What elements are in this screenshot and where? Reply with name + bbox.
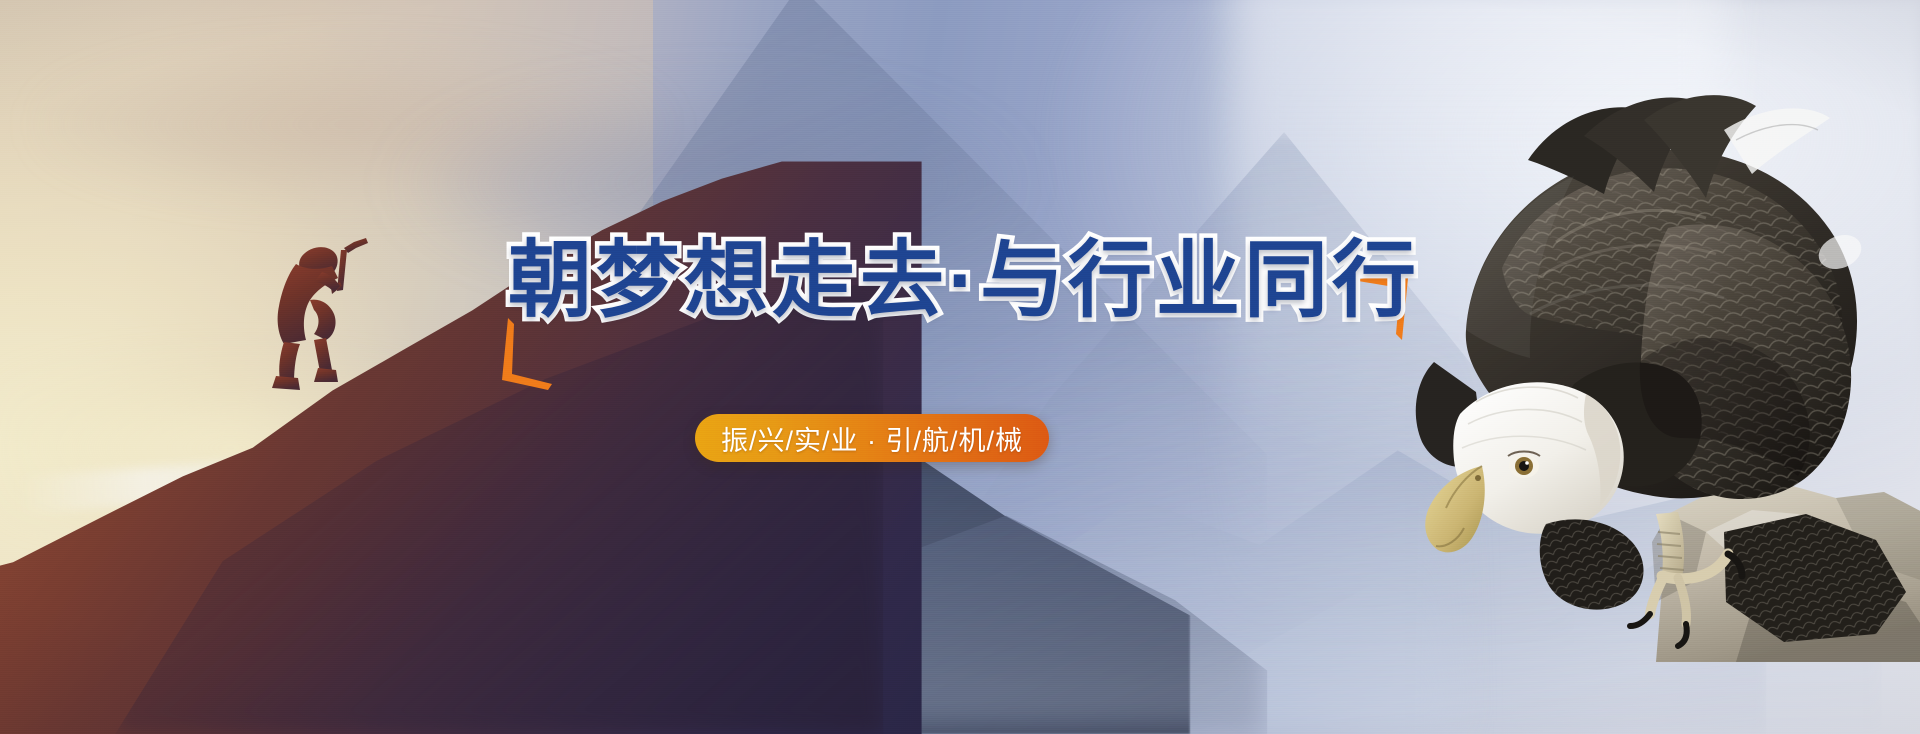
- tagline-badge: 振/兴/实/业 · 引/航/机/械: [695, 414, 1049, 462]
- page-title: 朝梦想走去·与行业同行: [508, 236, 1420, 324]
- tagline-badge-label: 振/兴/实/业 · 引/航/机/械: [721, 419, 1023, 458]
- accent-mark-left-icon: [492, 318, 552, 390]
- hero-banner: 朝梦想走去·与行业同行 振/兴/实/业 · 引/航/机/械: [0, 0, 1920, 734]
- bald-eagle: [1406, 62, 1920, 662]
- climber-silhouette: [248, 212, 398, 412]
